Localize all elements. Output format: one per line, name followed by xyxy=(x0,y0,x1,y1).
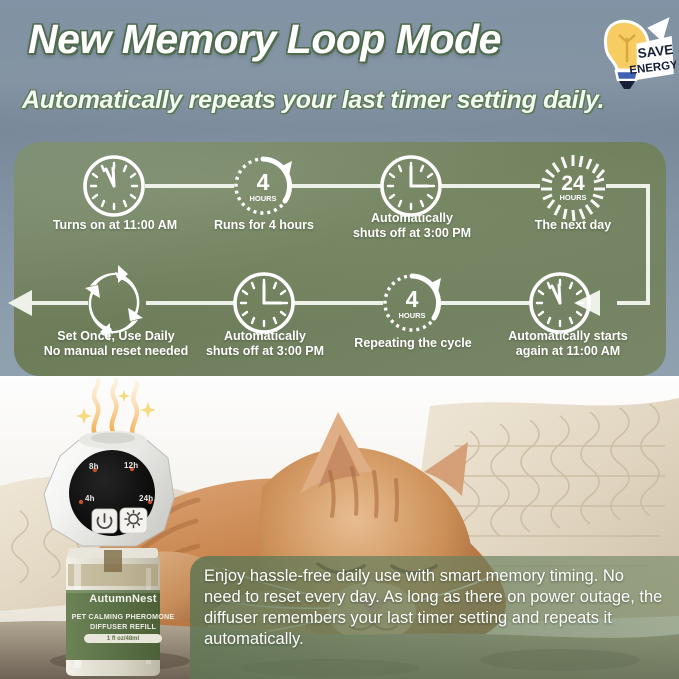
ray-icon xyxy=(649,19,668,40)
page-subtitle: Automatically repeats your last timer se… xyxy=(22,86,662,115)
bottle-brand: AutumnNest xyxy=(66,593,180,605)
bottle-line-2: DIFFUSER REFILL xyxy=(62,622,184,631)
infographic-poster: 4 HOURS xyxy=(0,0,679,679)
timer-label-12h[interactable]: 12h xyxy=(124,461,138,470)
flow-label-turns-on: Turns on at 11:00 AM xyxy=(44,218,186,233)
description-text: Enjoy hassle-free daily use with smart m… xyxy=(190,556,679,679)
flow-label-runs-four-hours: Runs for 4 hours xyxy=(198,218,330,233)
timer-label-24h[interactable]: 24h xyxy=(139,494,153,503)
flow-label-next-day: The next day xyxy=(508,218,638,233)
vapor-icon xyxy=(94,379,137,438)
power-button xyxy=(92,509,117,533)
timer-label-8h[interactable]: 8h xyxy=(89,462,99,471)
timer-label-4h[interactable]: 4h xyxy=(85,494,95,503)
page-title: New Memory Loop Mode xyxy=(28,16,588,63)
bottle-volume: 1 fl oz/48ml xyxy=(84,634,162,643)
save-energy-badge: SAVE ENERGY xyxy=(588,14,676,94)
flow-label-repeating-cycle: Repeating the cycle xyxy=(348,336,478,351)
bottle-line-1: PET CALMING PHEROMONE xyxy=(62,612,184,621)
light-button xyxy=(120,508,147,533)
